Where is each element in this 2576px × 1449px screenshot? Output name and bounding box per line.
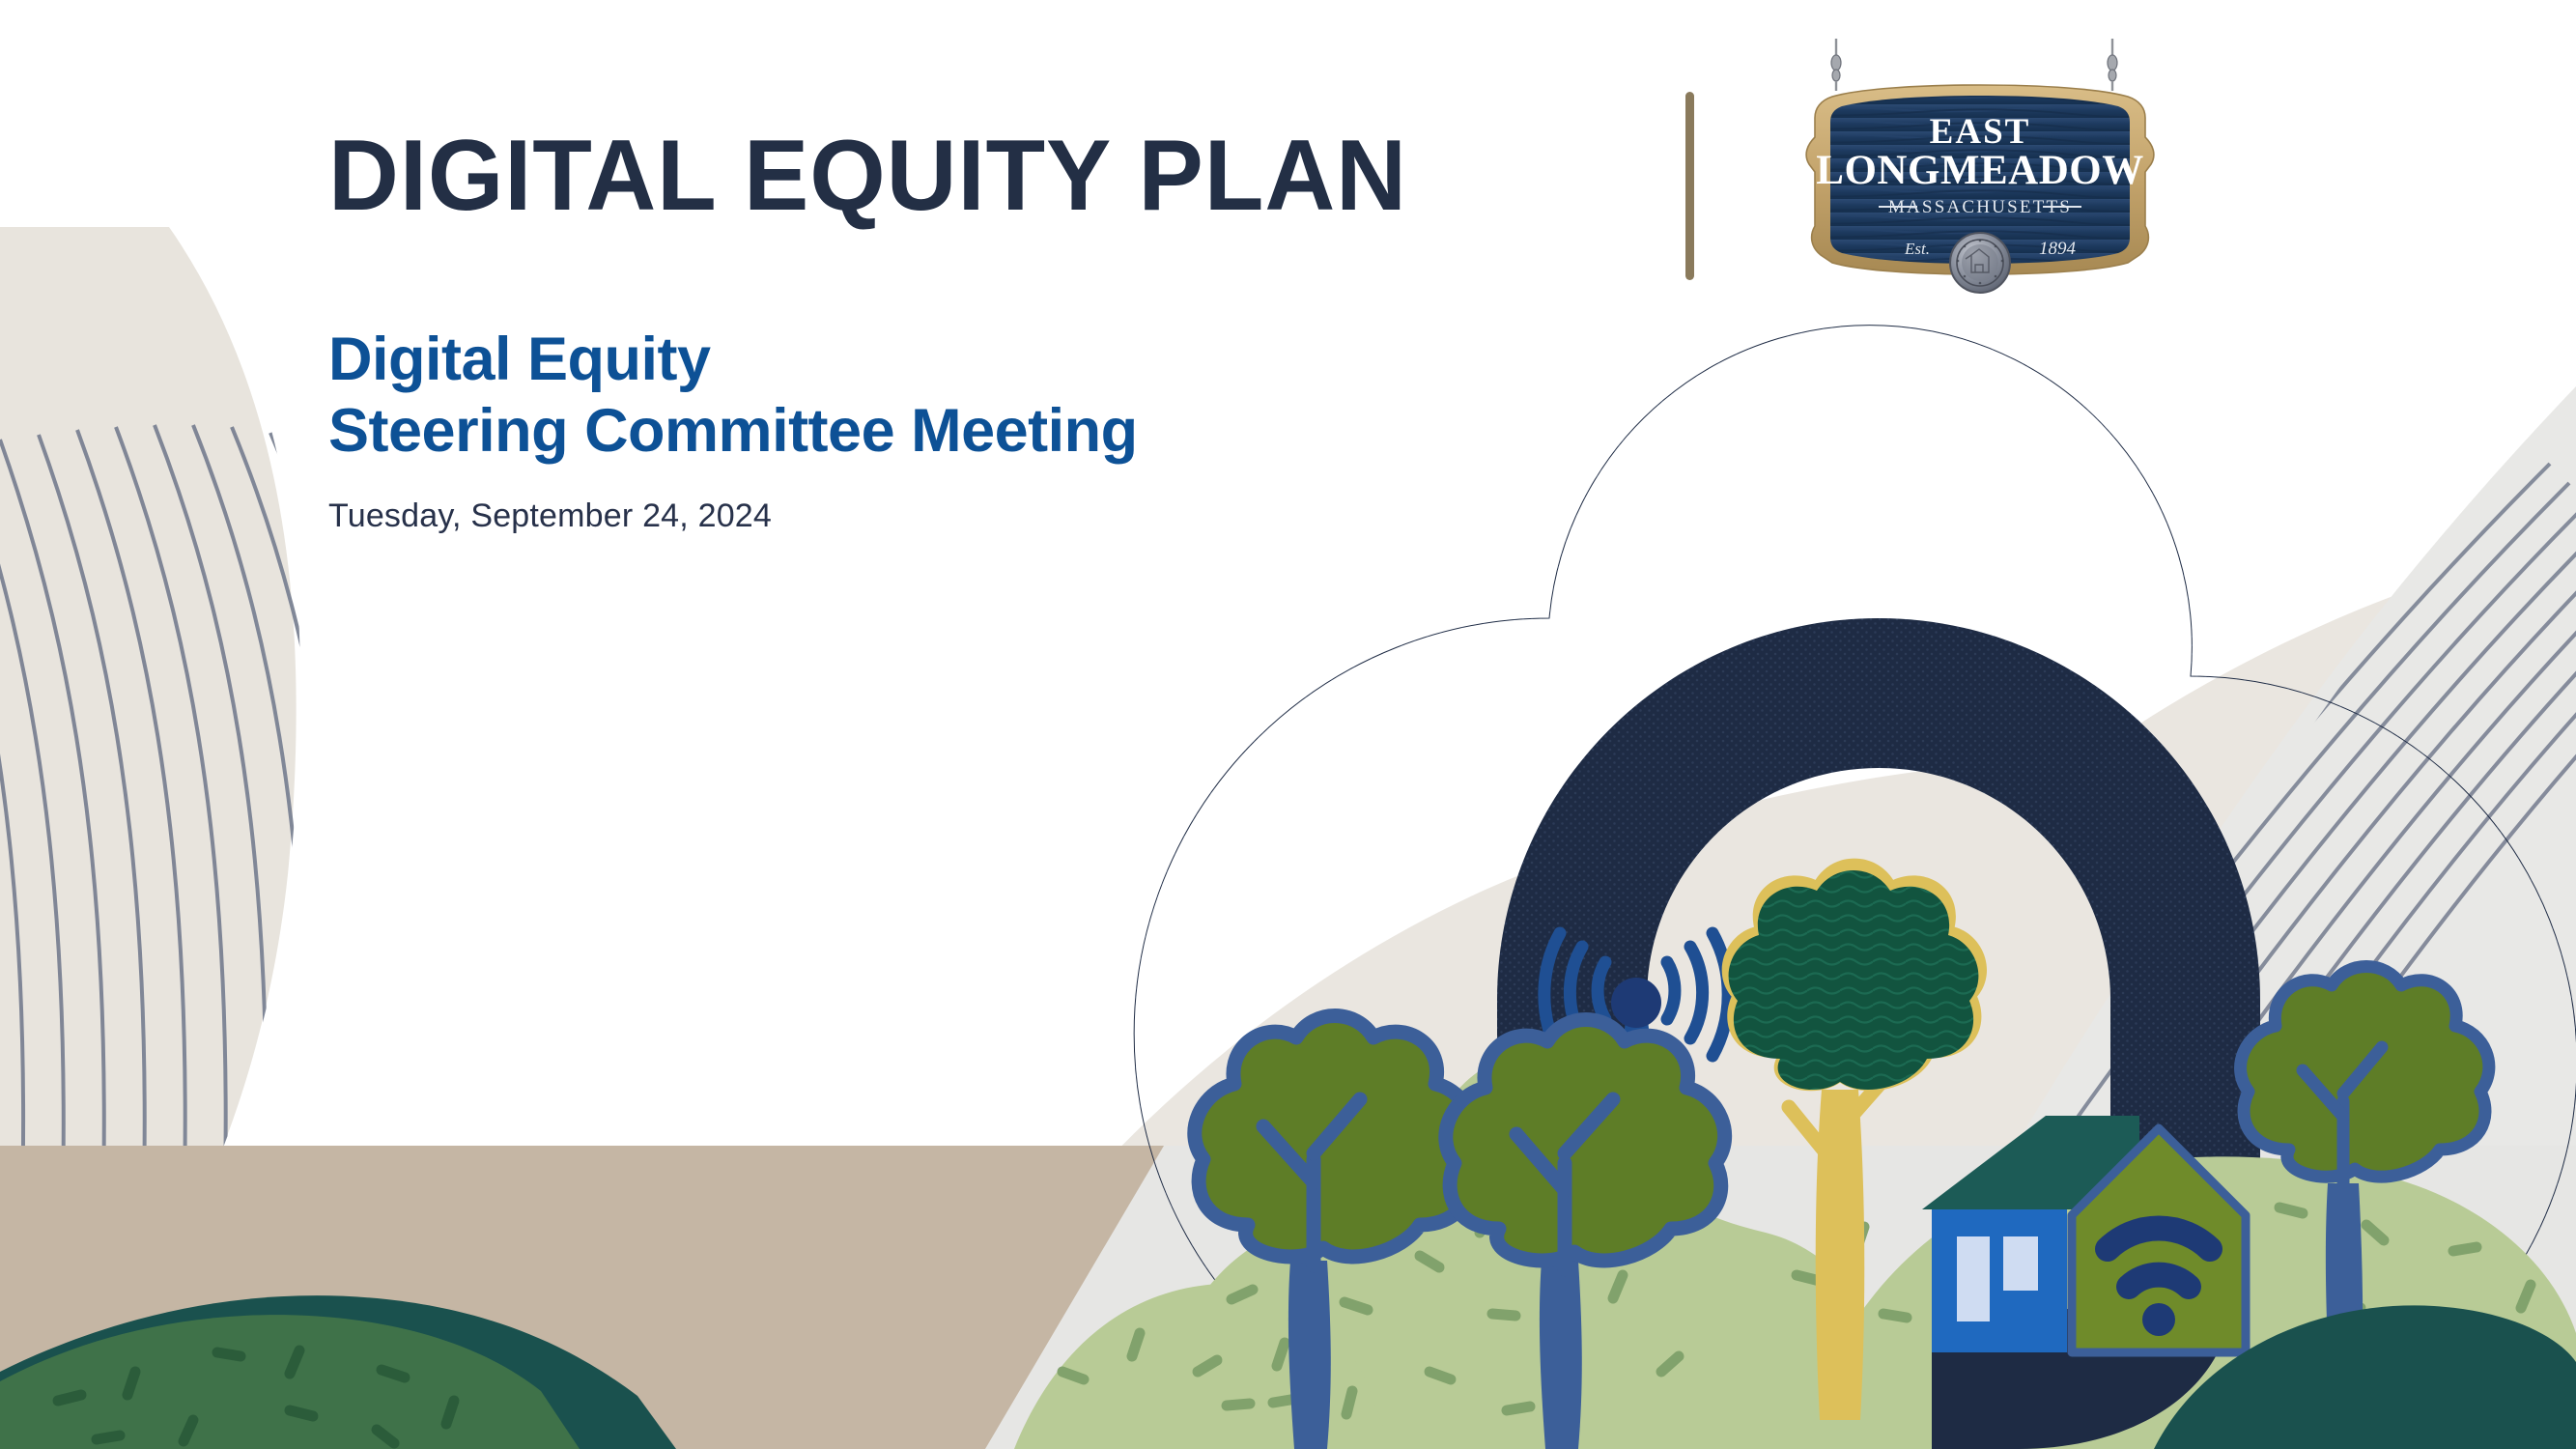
- town-seal-medallion: [1950, 233, 2010, 293]
- sign-text-east: EAST: [1930, 112, 2031, 152]
- sign-text-longmeadow: LONGMEADOW: [1816, 148, 2143, 193]
- title-text-block: DIGITAL EQUITY PLAN Digital Equity Steer…: [328, 126, 1441, 535]
- window-small: [2003, 1236, 2038, 1291]
- subtitle-line-2: Steering Committee Meeting: [328, 396, 1441, 468]
- window-tall: [1957, 1236, 1990, 1321]
- wifi-dot: [2142, 1303, 2175, 1336]
- sign-text-est: Est.: [1904, 240, 1930, 258]
- subtitle: Digital Equity Steering Committee Meetin…: [328, 325, 1441, 467]
- meeting-date: Tuesday, September 24, 2024: [328, 497, 1441, 535]
- slide-canvas: DIGITAL EQUITY PLAN Digital Equity Steer…: [0, 0, 2576, 1449]
- subtitle-line-1: Digital Equity: [328, 325, 1441, 396]
- page-title: DIGITAL EQUITY PLAN: [328, 126, 1407, 226]
- chain-link-right: [2108, 55, 2117, 81]
- house-side-building: [1932, 1209, 2067, 1352]
- chain-link-left: [1831, 55, 1841, 81]
- town-sign-logo: EAST LONGMEADOW MASSACHUSETTS Est. 1894: [1772, 37, 2188, 298]
- sign-text-year: 1894: [2039, 239, 2077, 259]
- logo-divider: [1685, 92, 1694, 280]
